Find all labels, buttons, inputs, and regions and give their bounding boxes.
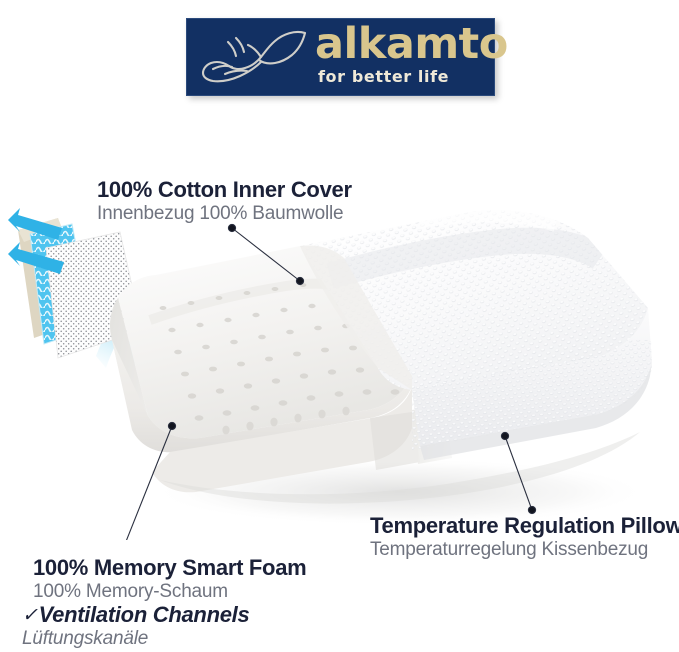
label-temperature-regulation-pillow-cover: Temperature Regulation Pillow Cover Temp… bbox=[370, 514, 679, 560]
label-cotton-inner-cover-de: Innenbezug 100% Baumwolle bbox=[97, 203, 352, 225]
label-ventilation-channels-en-text: Ventilation Channels bbox=[39, 602, 250, 627]
label-ventilation-channels: ✓Ventilation Channels Lüftungskanäle bbox=[22, 603, 249, 649]
product-infographic: alkamto for better life bbox=[0, 0, 679, 652]
label-memory-smart-foam: 100% Memory Smart Foam 100% Memory-Schau… bbox=[33, 556, 306, 602]
bird-icon bbox=[195, 25, 315, 89]
product-photo bbox=[0, 180, 679, 540]
pillow-body bbox=[110, 204, 670, 504]
label-ventilation-channels-de: Lüftungskanäle bbox=[22, 628, 249, 650]
label-temperature-regulation-en: Temperature Regulation Pillow Cover bbox=[370, 514, 679, 539]
check-icon: ✓ bbox=[22, 605, 38, 626]
label-temperature-regulation-de: Temperaturregelung Kissenbezug bbox=[370, 539, 679, 561]
label-ventilation-channels-en: ✓Ventilation Channels bbox=[22, 603, 249, 628]
label-memory-smart-foam-en: 100% Memory Smart Foam bbox=[33, 556, 306, 581]
brand-logo-badge: alkamto for better life bbox=[186, 18, 495, 96]
label-cotton-inner-cover-en: 100% Cotton Inner Cover bbox=[97, 178, 352, 203]
label-cotton-inner-cover: 100% Cotton Inner Cover Innenbezug 100% … bbox=[97, 178, 352, 224]
brand-tagline: for better life bbox=[318, 69, 449, 85]
label-memory-smart-foam-de: 100% Memory-Schaum bbox=[33, 581, 306, 603]
brand-wordmark: alkamto bbox=[315, 23, 508, 66]
